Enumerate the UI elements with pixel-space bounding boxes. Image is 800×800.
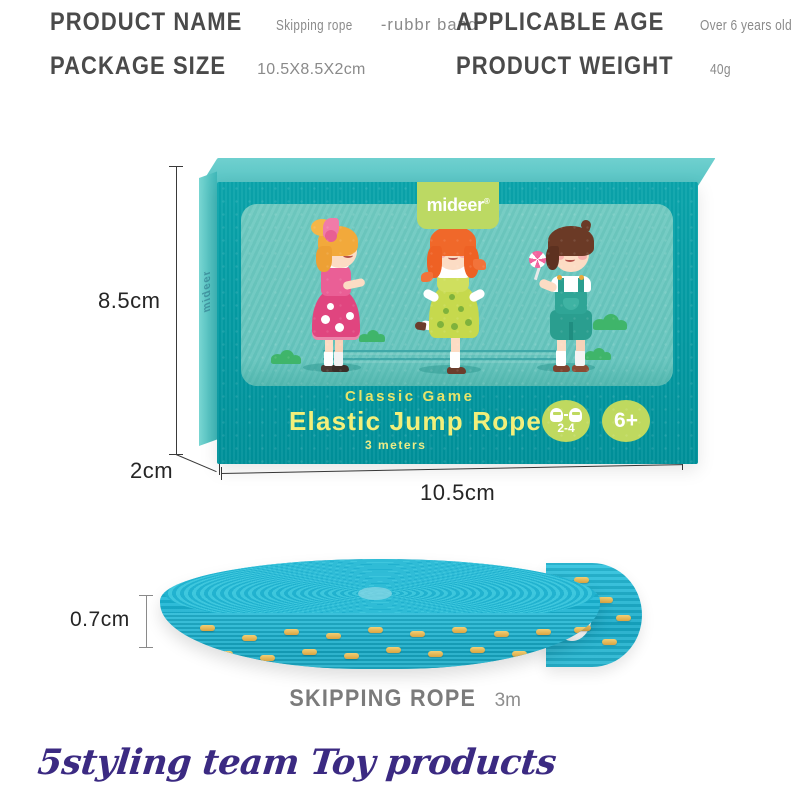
package-photo-scene: 8.5cm 2cm 10.5cm mideer mideer® — [0, 140, 800, 540]
rope-dash — [602, 639, 617, 645]
spec-label-applicable-age: APPLICABLE AGE — [456, 8, 664, 37]
package-title: Elastic Jump Rope — [289, 406, 542, 437]
dimension-line-height — [176, 166, 177, 454]
rope-dash — [302, 649, 317, 655]
rope-dash — [326, 633, 341, 639]
rope-dash — [344, 653, 359, 659]
spec-row-applicable-age: APPLICABLE AGE Over 6 years old — [456, 8, 800, 37]
spec-value-package-size: 10.5X8.5X2cm — [257, 61, 366, 79]
rope-dash — [512, 651, 527, 657]
rope-dash — [182, 643, 197, 649]
lollipop-stick — [534, 266, 541, 280]
brand-logo-tab: mideer® — [417, 182, 499, 229]
rope-dash — [428, 651, 443, 657]
badge-age-label: 6+ — [614, 409, 638, 433]
dimension-line-rope-width — [146, 595, 147, 647]
spec-label-package-size: PACKAGE SIZE — [50, 52, 226, 81]
bush-icon — [271, 350, 301, 364]
player-icons — [550, 408, 582, 422]
rope-coil-body — [160, 559, 600, 669]
illustration-kid-boy — [533, 216, 607, 372]
rope-dash — [556, 647, 571, 653]
spec-header: PRODUCT NAME Skipping rope -rubbr band A… — [0, 0, 800, 110]
rope-dash — [452, 627, 467, 633]
spec-value-product-name-a: Skipping rope — [276, 17, 353, 34]
spec-row-package-size: PACKAGE SIZE 10.5X8.5X2cm — [50, 52, 366, 81]
spec-label-product-weight: PRODUCT WEIGHT — [456, 52, 674, 81]
badge-player-count-label: 2-4 — [557, 421, 574, 435]
spec-value-product-weight: 40g — [710, 61, 731, 78]
rope-dash — [616, 615, 631, 621]
package-left-spine: mideer — [199, 171, 217, 446]
dimension-label-height: 8.5cm — [98, 288, 160, 314]
player-icon — [550, 408, 563, 422]
rope-dash — [574, 627, 589, 633]
brand-registered-mark: ® — [484, 197, 490, 206]
dimension-cap-rope-top — [139, 595, 153, 596]
package-front-label: Classic Game Elastic Jump Rope 3 meters … — [217, 386, 698, 458]
rope-caption: SKIPPING ROPE 3m — [0, 685, 800, 713]
product-package-box: mideer mideer® — [200, 158, 700, 468]
rope-dash — [598, 597, 613, 603]
rope-coil-front-wall — [160, 613, 600, 669]
spec-row-product-weight: PRODUCT WEIGHT 40g — [456, 52, 736, 81]
player-icon — [569, 408, 582, 422]
rope-coil — [160, 559, 640, 679]
illustration-panel — [241, 204, 673, 386]
package-front-face: mideer® — [217, 182, 698, 464]
rope-dash — [260, 655, 275, 661]
badge-player-count: 2-4 — [542, 400, 590, 442]
spec-row-product-name: PRODUCT NAME Skipping rope -rubbr band — [50, 8, 478, 37]
rope-caption-main: SKIPPING ROPE — [289, 685, 476, 713]
rope-dash — [410, 631, 425, 637]
brand-logo-text: mideer® — [427, 195, 490, 216]
illustration-kid-girl-redhead — [413, 216, 493, 374]
dimension-cap-rope-bottom — [139, 647, 153, 648]
rope-dash — [494, 631, 509, 637]
rope-dash — [470, 647, 485, 653]
package-spine-brand-text: mideer — [201, 268, 213, 314]
rope-dash — [368, 627, 383, 633]
dimension-cap-height-top — [169, 166, 183, 167]
spec-value-applicable-age: Over 6 years old — [700, 17, 792, 34]
rope-dash — [218, 651, 233, 657]
rope-caption-length: 3m — [495, 690, 521, 712]
rope-dash — [242, 635, 257, 641]
rope-dash — [284, 629, 299, 635]
dimension-label-rope-width: 0.7cm — [70, 608, 130, 632]
badge-age-rating: 6+ — [602, 400, 650, 442]
lollipop-icon — [529, 251, 546, 268]
illustration-kid-girl-blonde — [299, 222, 369, 372]
footer-brand-script: 5styling team Toy products — [36, 742, 558, 783]
rope-photo-scene: 0.7cm — [0, 545, 800, 705]
player-dash-icon — [564, 414, 568, 416]
package-length: 3 meters — [365, 438, 426, 452]
package-tagline: Classic Game — [345, 388, 475, 405]
spec-label-product-name: PRODUCT NAME — [50, 8, 242, 37]
rope-dash — [200, 625, 215, 631]
dimension-label-depth: 2cm — [130, 458, 173, 484]
rope-dash — [386, 647, 401, 653]
dimension-label-width: 10.5cm — [420, 480, 495, 506]
rope-dash — [536, 629, 551, 635]
dimension-cap-width-left — [221, 467, 222, 480]
